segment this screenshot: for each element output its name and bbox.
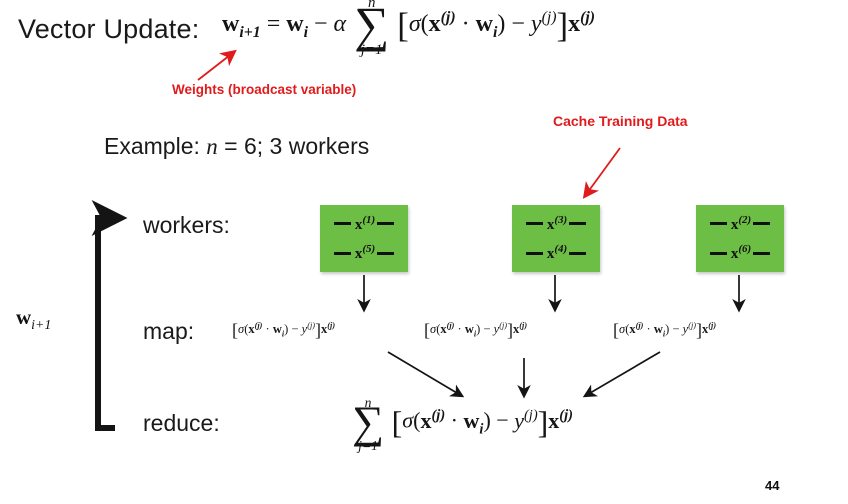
formula-paren-open: (: [421, 11, 429, 37]
feedback-subscript: i+1: [31, 317, 51, 332]
worker-1-vector-1: x(1): [355, 214, 375, 234]
formula-bracket-open: [: [397, 6, 409, 45]
map-formula-2: [σ(x(j) · wi) − y(j)]x(j): [424, 320, 527, 341]
formula-alpha: α: [334, 11, 347, 37]
formula-w-i-2: wi: [476, 11, 498, 37]
example-n-symbol: n: [206, 134, 218, 159]
w-i: wi: [273, 322, 284, 336]
map-formula-1: [σ(x(j) · wi) − y(j)]x(j): [232, 320, 335, 341]
formula-w-next: wi+1: [222, 11, 261, 37]
vector-line-left-icon: [710, 252, 727, 255]
vector-line-right-icon: [569, 252, 586, 255]
formula-w-i: wi: [286, 11, 308, 37]
worker-3-vector-row-2: x(6): [696, 243, 784, 263]
minus-operator: −: [672, 322, 679, 336]
paren-close: ): [476, 322, 480, 336]
x-j: x(j): [248, 322, 262, 336]
feedback-w: w: [16, 305, 31, 329]
formula-paren-close: ): [497, 11, 505, 37]
slide-canvas: Vector Update: wi+1 = wi − α n ∑ j=1 [σ(…: [0, 0, 848, 504]
formula-sigma-fn: σ: [409, 11, 421, 37]
vector-line-right-icon: [569, 222, 586, 225]
formula-x-j-2: x(j): [568, 11, 595, 37]
minus-operator: −: [291, 322, 298, 336]
dot-operator: ·: [266, 322, 270, 336]
weights-pointer-arrow: [198, 52, 234, 80]
x-j-trailing: x(j): [548, 408, 573, 433]
formula-equals: =: [267, 11, 281, 37]
worker-2-vector-row-1: x(3): [512, 214, 600, 234]
vector-line-left-icon: [334, 222, 351, 225]
w-i: wi: [654, 322, 665, 336]
stage-label-map: map:: [143, 318, 194, 345]
formula-dot: ·: [462, 11, 470, 37]
sum-lower-limit: j=1: [354, 43, 389, 58]
formula-summation: n ∑ j=1: [354, 7, 389, 44]
example-line: Example: n = 6; 3 workers: [104, 133, 369, 160]
vector-line-right-icon: [377, 252, 394, 255]
sum-sigma-glyph: ∑: [354, 7, 389, 44]
x-j: x(j): [629, 322, 643, 336]
sum-upper-limit: n: [354, 0, 389, 11]
map-3-to-reduce-arrow: [585, 352, 660, 396]
dot-operator: ·: [458, 322, 462, 336]
vector-line-left-icon: [710, 222, 727, 225]
worker-box-3[interactable]: x(2) x(6): [696, 205, 784, 272]
feedback-weight-label: wi+1: [16, 305, 51, 333]
sigma-fn: σ: [402, 408, 413, 433]
vector-line-left-icon: [526, 222, 543, 225]
stage-label-reduce: reduce:: [143, 410, 220, 437]
bracket-open: [: [392, 405, 403, 440]
dot-operator: ·: [451, 408, 458, 433]
vector-line-right-icon: [377, 222, 394, 225]
x-j-trailing: x(j): [513, 322, 527, 336]
worker-3-vector-2: x(6): [731, 243, 751, 263]
minus-operator: −: [496, 408, 508, 433]
y-j: y(j): [494, 322, 507, 336]
formula-bracket-close: ]: [557, 6, 569, 45]
vector-line-left-icon: [526, 252, 543, 255]
vector-update-formula: wi+1 = wi − α n ∑ j=1 [σ(x(j) · wi) − y(…: [222, 6, 595, 46]
worker-3-vector-1: x(2): [731, 214, 751, 234]
reduce-summation: n ∑ j=1: [352, 406, 384, 440]
reduce-formula: n ∑ j=1 [σ(x(j) · wi) − y(j)]x(j): [350, 405, 573, 441]
vector-line-right-icon: [753, 252, 770, 255]
x-j-trailing: x(j): [702, 322, 716, 336]
cache-annotation-label: Cache Training Data: [553, 113, 688, 129]
cache-pointer-arrow: [585, 148, 620, 196]
worker-2-vector-2: x(4): [547, 243, 567, 263]
vector-line-left-icon: [334, 252, 351, 255]
worker-2-vector-1: x(3): [547, 214, 567, 234]
map-1-to-reduce-arrow: [388, 352, 462, 396]
vector-line-right-icon: [753, 222, 770, 225]
formula-minus: −: [314, 11, 328, 37]
example-n-value: = 6; 3 workers: [218, 133, 369, 159]
bracket-close: ]: [538, 405, 549, 440]
worker-3-vector-row-1: x(2): [696, 214, 784, 234]
reduce-to-workers-feedback-arrow: [98, 218, 118, 428]
paren-close: ): [665, 322, 669, 336]
w-i: wi: [464, 408, 484, 433]
map-formula-3: [σ(x(j) · wi) − y(j)]x(j): [613, 320, 716, 341]
minus-operator: −: [483, 322, 490, 336]
worker-box-1[interactable]: x(1) x(5): [320, 205, 408, 272]
formula-y-j: y(j): [531, 11, 557, 37]
formula-x-j: x(j): [429, 11, 456, 37]
paren-close: ): [284, 322, 288, 336]
worker-2-vector-row-2: x(4): [512, 243, 600, 263]
dot-operator: ·: [647, 322, 651, 336]
page-number: 44: [765, 478, 779, 493]
y-j: y(j): [683, 322, 696, 336]
worker-1-vector-row-1: x(1): [320, 214, 408, 234]
y-j: y(j): [514, 408, 537, 433]
x-j: x(j): [440, 322, 454, 336]
sum-upper-limit: n: [352, 396, 384, 410]
sum-lower-limit: j=1: [352, 439, 384, 453]
page-title: Vector Update:: [18, 14, 199, 45]
formula-minus-2: −: [511, 11, 525, 37]
worker-1-vector-2: x(5): [355, 243, 375, 263]
y-j: y(j): [302, 322, 315, 336]
weights-annotation-label: Weights (broadcast variable): [172, 82, 356, 97]
sum-sigma-glyph: ∑: [352, 406, 384, 440]
worker-box-2[interactable]: x(3) x(4): [512, 205, 600, 272]
x-j-trailing: x(j): [321, 322, 335, 336]
example-prefix: Example:: [104, 133, 206, 159]
x-j: x(j): [420, 408, 445, 433]
stage-label-workers: workers:: [143, 212, 230, 239]
worker-1-vector-row-2: x(5): [320, 243, 408, 263]
paren-close: ): [483, 408, 490, 433]
w-i: wi: [465, 322, 476, 336]
